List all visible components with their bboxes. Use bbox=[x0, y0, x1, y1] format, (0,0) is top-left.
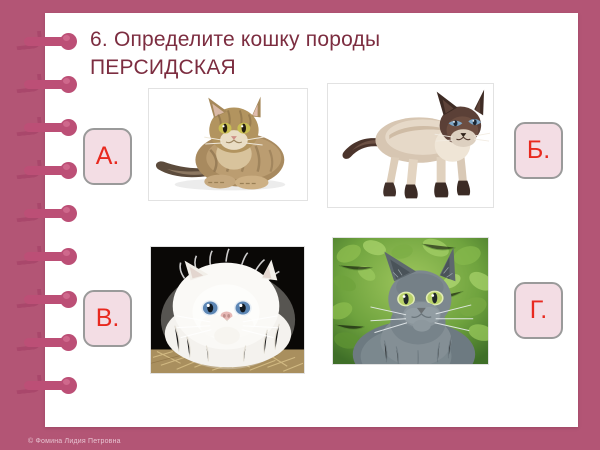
answer-label-v[interactable]: В. bbox=[83, 290, 132, 347]
question-title: 6. Определите кошку породы ПЕРСИДСКАЯ bbox=[90, 26, 520, 81]
spiral-ring-tail bbox=[15, 375, 43, 395]
answer-photo-b[interactable] bbox=[327, 83, 494, 208]
quiz-slide: 6. Определите кошку породы ПЕРСИДСКАЯ А. bbox=[0, 0, 600, 450]
brown-tabby-longhair-cat-photo bbox=[149, 89, 307, 200]
spiral-ring-tail bbox=[15, 74, 43, 94]
answer-photo-g[interactable] bbox=[332, 237, 489, 365]
answer-label-a-text: А. bbox=[96, 142, 120, 171]
white-persian-cat-photo bbox=[151, 247, 304, 373]
answer-label-a[interactable]: А. bbox=[83, 128, 132, 185]
spiral-ring-tail bbox=[15, 160, 43, 180]
answer-label-v-text: В. bbox=[96, 304, 120, 333]
spiral-ring-tail bbox=[15, 31, 43, 51]
answer-label-b[interactable]: Б. bbox=[514, 122, 563, 179]
spiral-ring-tail bbox=[15, 203, 43, 223]
answer-label-b-text: Б. bbox=[527, 136, 550, 165]
answer-label-g[interactable]: Г. bbox=[514, 282, 563, 339]
answer-photo-a[interactable] bbox=[148, 88, 308, 201]
answer-photo-v[interactable] bbox=[150, 246, 305, 374]
copyright-credit: © Фомина Лидия Петровна bbox=[28, 438, 121, 445]
answer-label-g-text: Г. bbox=[530, 296, 547, 325]
spiral-ring-tail bbox=[15, 246, 43, 266]
spiral-ring-tail bbox=[15, 117, 43, 137]
spiral-ring-tail bbox=[15, 332, 43, 352]
grey-russian-blue-cat-photo bbox=[333, 238, 488, 364]
siamese-cat-photo bbox=[328, 84, 493, 207]
spiral-ring-tail bbox=[15, 289, 43, 309]
